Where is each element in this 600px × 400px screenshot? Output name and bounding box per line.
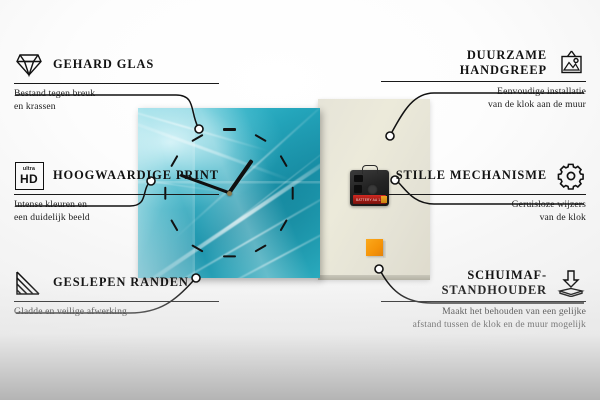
clock-tick (291, 186, 293, 199)
infographic-canvas: BATTERY AA 1.5V (0, 0, 600, 400)
feature-divider (14, 301, 219, 302)
clock-center-pin (227, 191, 232, 196)
ultra-hd-large-text: HD (20, 173, 38, 185)
feature-divider (381, 301, 586, 302)
feature-title: HOOGWAARDIGE PRINT (53, 168, 219, 183)
feature-geslepen-randen: GESLEPEN RANDEN Gladde en veilige afwerk… (14, 268, 219, 319)
feature-description: Intense kleuren en een duidelijk beeld (14, 199, 219, 224)
beveled-edges-icon (14, 268, 44, 298)
feature-header: GEHARD GLAS (14, 50, 219, 80)
feature-description: Bestand tegen breuk en krassen (14, 88, 219, 113)
picture-frame-icon (556, 48, 586, 78)
feature-duurzame-handgreep: DUURZAME HANDGREEP Eenvoudige installati… (381, 48, 586, 112)
feature-description: Maakt het behouden van een gelijke afsta… (381, 306, 586, 331)
ultra-hd-badge-icon: ultra HD (14, 161, 44, 191)
feature-title: GEHARD GLAS (53, 57, 154, 72)
diamond-icon (14, 50, 44, 80)
feature-hoogwaardige-print: ultra HD HOOGWAARDIGE PRINT Intense kleu… (14, 161, 219, 224)
feature-header: ultra HD HOOGWAARDIGE PRINT (14, 161, 219, 191)
mechanism-dial (367, 184, 378, 195)
mechanism-hanger (362, 165, 378, 174)
feature-title: SCHUIMAF- STANDHOUDER (381, 268, 547, 298)
feature-gehard-glas: GEHARD GLAS Bestand tegen breuk en krass… (14, 50, 219, 113)
feature-divider (381, 81, 586, 82)
foam-spacer-side (383, 241, 386, 258)
spacer-press-icon (556, 268, 586, 298)
feature-header: DUURZAME HANDGREEP (381, 48, 586, 78)
clock-tick (223, 255, 236, 257)
feature-description: Gladde en veilige afwerking (14, 306, 219, 319)
feature-description: Eenvoudige installatie van de klok aan d… (381, 86, 586, 111)
feature-title: STILLE MECHANISME (396, 168, 547, 183)
feature-divider (14, 83, 219, 84)
feature-header: GESLEPEN RANDEN (14, 268, 219, 298)
feature-header: STILLE MECHANISME (381, 161, 586, 191)
feature-description: Geruisloze wijzers van de klok (381, 199, 586, 224)
feature-header: SCHUIMAF- STANDHOUDER (381, 268, 586, 298)
feature-divider (381, 194, 586, 195)
mechanism-slot (354, 175, 363, 182)
mechanism-slot (354, 185, 362, 193)
feature-title: GESLEPEN RANDEN (53, 275, 189, 290)
feature-schuimafstandhouder: SCHUIMAF- STANDHOUDER Maakt het behouden… (381, 268, 586, 332)
gear-icon (556, 161, 586, 191)
feature-stille-mechanisme: STILLE MECHANISME Geruisloze wijzers van… (381, 161, 586, 224)
feature-divider (14, 194, 219, 195)
feature-title: DUURZAME HANDGREEP (381, 48, 547, 78)
foam-spacer (366, 239, 383, 256)
